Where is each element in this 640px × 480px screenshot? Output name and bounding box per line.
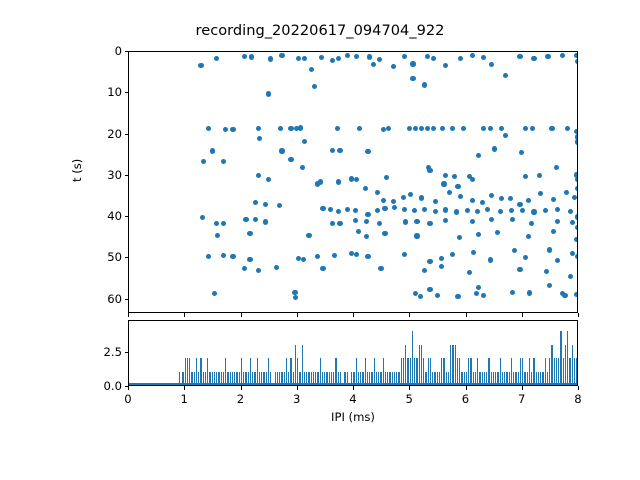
histogram-bars-layer — [129, 321, 577, 385]
scatter-point — [574, 237, 577, 242]
histogram-bar — [392, 372, 393, 385]
scatter-point — [381, 198, 386, 203]
scatter-point — [288, 157, 293, 162]
scatter-point — [517, 267, 522, 272]
scatter-point — [439, 264, 444, 269]
scatter-point — [551, 229, 556, 234]
x-tick-label: 3 — [293, 392, 300, 406]
scatter-point — [568, 274, 573, 279]
scatter-point — [328, 207, 333, 212]
tick-mark — [578, 386, 579, 390]
scatter-point — [481, 293, 486, 298]
scatter-point — [575, 254, 577, 259]
scatter-point — [517, 54, 522, 59]
scatter-point — [200, 215, 205, 220]
scatter-point — [465, 208, 470, 213]
histogram-bar — [461, 372, 462, 385]
histogram-bar — [428, 358, 429, 385]
histogram-bar — [257, 358, 258, 385]
histogram-bar — [549, 358, 550, 385]
scatter-point — [575, 59, 577, 64]
scatter-point — [353, 218, 358, 223]
histogram-bar — [567, 331, 568, 385]
tick-mark — [578, 313, 579, 317]
scatter-point — [263, 219, 268, 224]
scatter-point — [263, 202, 268, 207]
scatter-point — [382, 231, 387, 236]
scatter-point — [470, 53, 475, 58]
histogram-bar — [286, 358, 287, 385]
histogram-bar — [333, 372, 334, 385]
histogram-bar — [317, 372, 318, 385]
tick-mark — [522, 313, 523, 317]
scatter-point — [402, 252, 407, 257]
histogram-bar — [214, 372, 215, 385]
histogram-bar — [389, 372, 390, 385]
scatter-point — [425, 54, 430, 59]
histogram-bar — [284, 372, 285, 385]
histogram-bar — [241, 358, 242, 385]
histogram-bar — [407, 358, 408, 385]
scatter-point — [402, 207, 407, 212]
histogram-bar — [194, 372, 195, 385]
histogram-bar — [198, 372, 199, 385]
x-axis-label: IPI (ms) — [128, 410, 578, 424]
histogram-bar — [410, 358, 411, 385]
y-tick-label: 40 — [82, 209, 122, 223]
scatter-point — [230, 254, 235, 259]
scatter-point — [508, 196, 513, 201]
histogram-bar — [189, 358, 190, 385]
scatter-point — [419, 195, 424, 200]
scatter-point — [510, 217, 515, 222]
scatter-point — [242, 266, 247, 271]
scatter-point — [247, 257, 252, 262]
histogram-bar — [351, 372, 352, 385]
scatter-point — [256, 268, 261, 273]
scatter-point — [268, 56, 273, 61]
histogram-bar — [416, 358, 417, 385]
histogram-bar — [365, 358, 366, 385]
histogram-bar — [554, 358, 555, 385]
scatter-point — [427, 287, 432, 292]
scatter-point — [392, 205, 397, 210]
histogram-bar — [288, 372, 289, 385]
scatter-point — [562, 293, 567, 298]
scatter-point — [302, 139, 307, 144]
scatter-point — [318, 179, 323, 184]
scatter-point — [256, 173, 261, 178]
histogram-bar — [423, 358, 424, 385]
histogram-bar — [437, 372, 438, 385]
scatter-point — [481, 126, 486, 131]
scatter-point — [476, 153, 481, 158]
scatter-point — [531, 209, 536, 214]
histogram-bar — [459, 358, 460, 385]
y-tick-label: 60 — [82, 292, 122, 306]
histogram-bar — [574, 358, 575, 385]
scatter-point — [337, 148, 342, 153]
scatter-point — [256, 126, 261, 131]
scatter-point — [443, 63, 448, 68]
scatter-point — [575, 134, 577, 139]
histogram-bar — [308, 372, 309, 385]
histogram-bar — [293, 372, 294, 385]
scatter-point — [364, 234, 369, 239]
scatter-point — [335, 126, 340, 131]
histogram-bar — [335, 358, 336, 385]
scatter-point — [336, 56, 341, 61]
scatter-point — [391, 199, 396, 204]
scatter-point — [440, 126, 445, 131]
tick-mark — [184, 386, 185, 390]
histogram-bar — [322, 372, 323, 385]
scatter-point — [221, 159, 226, 164]
histogram-bar — [223, 372, 224, 385]
scatter-point — [433, 199, 438, 204]
scatter-point — [365, 149, 370, 154]
histogram-bar — [576, 358, 577, 385]
tick-mark — [522, 386, 523, 390]
histogram-bar — [279, 372, 280, 385]
scatter-point — [288, 126, 293, 131]
scatter-point — [214, 56, 219, 61]
scatter-point — [461, 126, 466, 131]
histogram-bar — [556, 358, 557, 385]
scatter-point — [300, 165, 305, 170]
scatter-point — [410, 76, 415, 81]
tick-mark — [297, 313, 298, 317]
scatter-point — [551, 197, 556, 202]
histogram-bar — [353, 372, 354, 385]
tick-mark — [128, 313, 129, 317]
histogram-bar — [432, 372, 433, 385]
histogram-bar — [216, 372, 217, 385]
histogram-bar — [450, 345, 451, 385]
scatter-point — [296, 56, 301, 61]
scatter-point — [537, 173, 542, 178]
histogram-bar — [266, 372, 267, 385]
scatter-point — [443, 207, 448, 212]
scatter-point — [568, 209, 573, 214]
histogram-bar — [558, 358, 559, 385]
scatter-point — [422, 82, 427, 87]
scatter-point — [278, 126, 283, 131]
histogram-bar — [538, 372, 539, 385]
histogram-bar — [446, 372, 447, 385]
scatter-point — [575, 139, 577, 144]
scatter-point — [257, 136, 262, 141]
scatter-point — [503, 133, 508, 138]
histogram-bar — [419, 345, 420, 385]
histogram-bar — [484, 372, 485, 385]
histogram-bar — [551, 345, 552, 385]
tick-mark — [409, 313, 410, 317]
histogram-bar — [504, 372, 505, 385]
histogram-bar — [367, 372, 368, 385]
histogram-bar — [250, 358, 251, 385]
histogram-bar — [455, 345, 456, 385]
scatter-point — [526, 198, 531, 203]
histogram-bar — [495, 372, 496, 385]
y-axis-label: t (s) — [70, 159, 84, 182]
x-tick-label: 1 — [181, 392, 188, 406]
histogram-bar — [275, 372, 276, 385]
scatter-point — [450, 126, 455, 131]
histogram-bar — [511, 358, 512, 385]
histogram-bar — [182, 372, 183, 385]
scatter-point — [512, 248, 517, 253]
scatter-point — [575, 225, 577, 230]
scatter-point — [492, 146, 497, 151]
scatter-point — [470, 177, 475, 182]
histogram-bar — [488, 358, 489, 385]
histogram-bar — [185, 358, 186, 385]
scatter-point — [529, 221, 534, 226]
scatter-point — [523, 255, 528, 260]
scatter-point — [408, 192, 413, 197]
histogram-bar — [371, 372, 372, 385]
scatter-point — [570, 251, 575, 256]
histogram-bar — [299, 372, 300, 385]
histogram-bar — [254, 372, 255, 385]
scatter-point — [410, 61, 415, 66]
histogram-bar — [232, 372, 233, 385]
scatter-point — [320, 206, 325, 211]
scatter-point — [418, 294, 423, 299]
scatter-point — [523, 126, 528, 131]
scatter-point — [353, 208, 358, 213]
histogram-bar — [441, 358, 442, 385]
scatter-point — [543, 208, 548, 213]
scatter-point — [277, 203, 282, 208]
scatter-point — [575, 177, 577, 182]
histogram-bar — [290, 358, 291, 385]
scatter-point — [555, 219, 560, 224]
scatter-point — [377, 221, 382, 226]
histogram-bar — [500, 358, 501, 385]
scatter-point — [439, 256, 444, 261]
scatter-point — [332, 253, 337, 258]
histogram-bar — [533, 358, 534, 385]
scatter-point — [531, 56, 536, 61]
scatter-point — [554, 165, 559, 170]
scatter-point — [315, 254, 320, 259]
scatter-point — [371, 62, 376, 67]
scatter-point — [266, 91, 271, 96]
histogram-bar — [234, 372, 235, 385]
scatter-point — [198, 63, 203, 68]
scatter-point — [249, 54, 254, 59]
scatter-point — [422, 268, 427, 273]
scatter-point — [320, 266, 325, 271]
scatter-point — [349, 176, 354, 181]
histogram-bar — [326, 372, 327, 385]
scatter-point — [354, 252, 359, 257]
tick-mark — [128, 386, 129, 390]
histogram-bar — [302, 345, 303, 385]
scatter-point — [413, 126, 418, 131]
scatter-point — [555, 258, 560, 263]
scatter-point — [345, 207, 350, 212]
histogram-bar — [252, 372, 253, 385]
scatter-point — [510, 290, 515, 295]
histogram-bar — [509, 372, 510, 385]
scatter-point — [363, 186, 368, 191]
scatter-point — [574, 292, 577, 297]
histogram-bar — [572, 345, 573, 385]
histogram-bar — [394, 372, 395, 385]
scatter-point — [441, 181, 446, 186]
scatter-point — [517, 202, 522, 207]
histogram-bar — [243, 372, 244, 385]
scatter-point — [230, 127, 235, 132]
scatter-point — [330, 148, 335, 153]
scatter-point — [425, 126, 430, 131]
histogram-bar — [412, 331, 413, 385]
scatter-point — [564, 190, 569, 195]
histogram-bar — [536, 372, 537, 385]
tick-mark — [125, 134, 129, 135]
scatter-point — [253, 200, 258, 205]
histogram-bar — [378, 372, 379, 385]
scatter-point — [378, 266, 383, 271]
histogram-bar — [187, 358, 188, 385]
tick-mark — [297, 386, 298, 390]
histogram-bar — [405, 345, 406, 385]
scatter-point — [312, 84, 317, 89]
histogram-bar — [281, 372, 282, 385]
histogram-bar — [547, 372, 548, 385]
histogram-bar — [236, 372, 237, 385]
scatter-point — [499, 126, 504, 131]
histogram-bar — [545, 358, 546, 385]
tick-mark — [125, 299, 129, 300]
tick-mark — [241, 386, 242, 390]
scatter-point — [435, 293, 440, 298]
scatter-point — [298, 125, 303, 130]
tick-mark — [125, 352, 129, 353]
y-tick-label: 2.5 — [82, 345, 122, 359]
histogram-bar — [527, 372, 528, 385]
histogram-bar — [540, 372, 541, 385]
histogram-bar — [331, 372, 332, 385]
histogram-bar — [482, 372, 483, 385]
scatter-point — [401, 195, 406, 200]
scatter-point — [455, 294, 460, 299]
histogram-bar — [529, 358, 530, 385]
tick-mark — [125, 216, 129, 217]
histogram-bar — [502, 372, 503, 385]
scatter-point — [365, 212, 370, 217]
scatter-point — [443, 218, 448, 223]
histogram-bar — [245, 372, 246, 385]
histogram-bar — [383, 358, 384, 385]
scatter-point — [422, 207, 427, 212]
scatter-point — [495, 230, 500, 235]
histogram-bar — [468, 358, 469, 385]
scatter-point — [530, 126, 535, 131]
scatter-point — [527, 290, 532, 295]
scatter-point — [481, 55, 486, 60]
tick-mark — [125, 51, 129, 52]
histogram-bar — [268, 358, 269, 385]
scatter-point — [476, 285, 481, 290]
scatter-point — [575, 214, 577, 219]
scatter-point — [382, 206, 387, 211]
y-tick-label: 0 — [82, 44, 122, 58]
histogram-bar — [398, 372, 399, 385]
histogram-bar — [191, 372, 192, 385]
scatter-point — [337, 221, 342, 226]
scatter-point — [480, 200, 485, 205]
scatter-point — [457, 235, 462, 240]
matplotlib-figure: recording_20220617_094704_922 0102030405… — [0, 0, 640, 480]
histogram-bar — [565, 345, 566, 385]
scatter-point — [452, 174, 457, 179]
scatter-point — [447, 190, 452, 195]
histogram-bar — [311, 372, 312, 385]
histogram-bar — [452, 345, 453, 385]
scatter-point — [330, 58, 335, 63]
scatter-point — [565, 126, 570, 131]
histogram-bar — [340, 372, 341, 385]
histogram-bar — [270, 372, 271, 385]
scatter-point — [427, 259, 432, 264]
histogram-bar — [200, 358, 201, 385]
histogram-bar — [448, 372, 449, 385]
scatter-point — [377, 57, 382, 62]
histogram-bar — [315, 372, 316, 385]
scatter-point — [476, 232, 481, 237]
histogram-bar — [560, 331, 561, 385]
histogram-bar — [212, 372, 213, 385]
scatter-point — [365, 254, 370, 259]
x-tick-label: 8 — [574, 392, 581, 406]
scatter-point — [214, 221, 219, 226]
scatter-point — [302, 56, 307, 61]
histogram-bar — [196, 358, 197, 385]
histogram-bar — [374, 358, 375, 385]
scatter-point — [471, 250, 476, 255]
histogram-bar — [479, 372, 480, 385]
scatter-point — [488, 257, 493, 262]
histogram-bar — [542, 372, 543, 385]
scatter-point — [450, 252, 455, 257]
x-tick-label: 0 — [124, 392, 131, 406]
histogram-bar — [356, 358, 357, 385]
histogram-bar — [403, 358, 404, 385]
x-tick-label: 7 — [518, 392, 525, 406]
histogram-bar — [531, 372, 532, 385]
scatter-point — [470, 198, 475, 203]
histogram-bar — [470, 358, 471, 385]
histogram-bar — [439, 372, 440, 385]
histogram-bar — [261, 372, 262, 385]
histogram-bar — [304, 372, 305, 385]
scatter-point — [523, 174, 528, 179]
histogram-bar — [360, 372, 361, 385]
histogram-bar — [414, 358, 415, 385]
scatter-point — [455, 184, 460, 189]
histogram-bar — [396, 372, 397, 385]
histogram-bar — [227, 372, 228, 385]
scatter-point — [545, 54, 550, 59]
y-tick-label: 50 — [82, 250, 122, 264]
scatter-point — [336, 179, 341, 184]
histogram-bar — [218, 372, 219, 385]
histogram-bar — [369, 372, 370, 385]
